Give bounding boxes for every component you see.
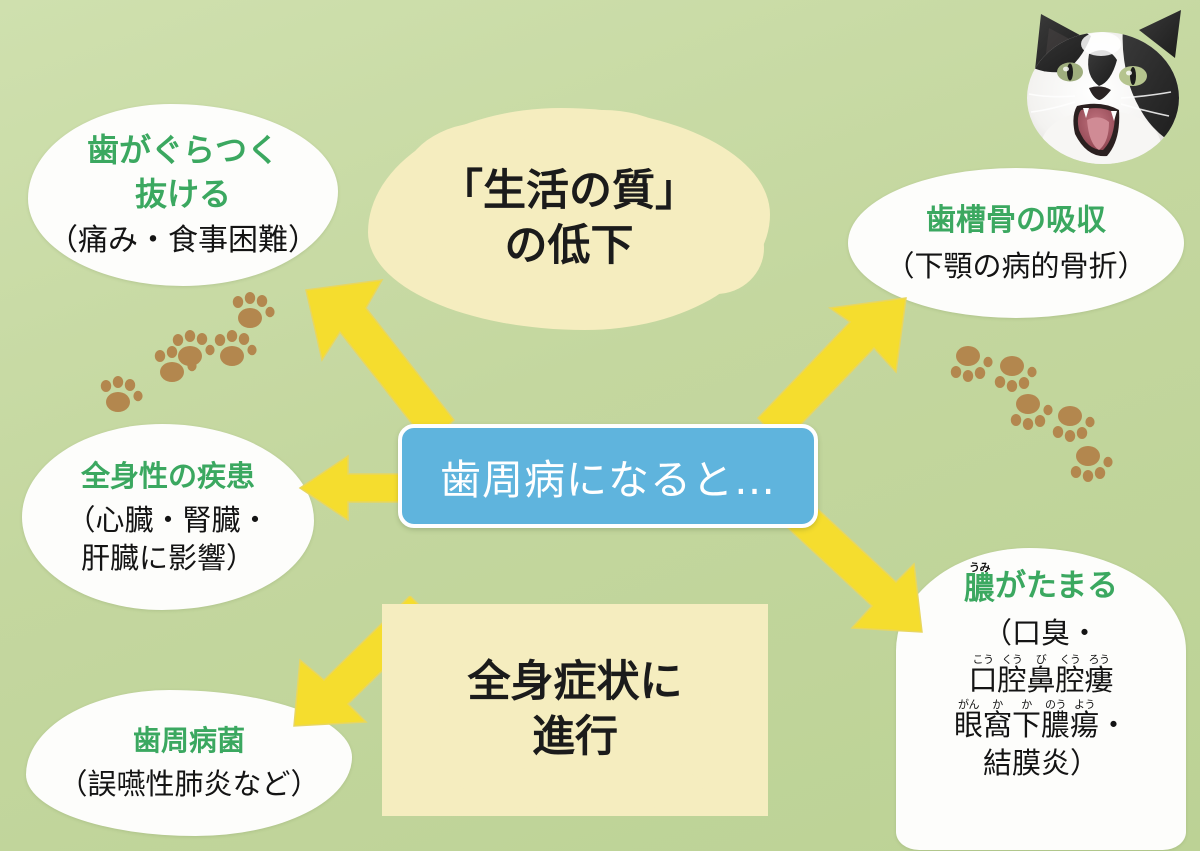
card-highlight-line: 歯槽骨の吸収 [922, 203, 1110, 240]
ruby-base: 腔 [997, 666, 1026, 695]
cloud-quality-of-life: 「生活の質」 の低下 [368, 108, 770, 330]
ruby-group: くう 腔 [1056, 654, 1085, 695]
ruby-group: こう 口 [968, 654, 997, 695]
ruby-base: 口 [968, 666, 997, 695]
ruby-base: 瘍 [1070, 711, 1099, 740]
card-sub-line: （口臭・ [983, 616, 1099, 650]
ruby-group: ・ [1099, 710, 1128, 740]
paw-print-icon [1068, 440, 1114, 484]
highlight-text: 歯がぐらつく [83, 132, 283, 172]
highlight-text: 歯槽骨の吸収 [922, 203, 1110, 240]
paw-print-icon [170, 326, 216, 370]
ruby-group: ろう 瘻 [1085, 654, 1114, 695]
card-sub-ruby-line: こう 口 くう 腔 び 鼻 くう 腔 ろう 瘻 [968, 654, 1113, 695]
card-systemic-disease: 全身性の疾患 （心臓・腎臓・ 肝臓に影響） [22, 424, 314, 610]
ruby-base: 腔 [1056, 666, 1085, 695]
paw-print-icon [98, 372, 144, 416]
highlight-tail: がたまる [995, 568, 1118, 605]
card-sub-ruby-line: がん 眼 か 窩 か 下 のう 膿 よう 瘍 ・ [954, 699, 1128, 740]
card-tooth-mobility: 歯がぐらつく 抜ける （痛み・食事困難） [28, 104, 338, 286]
card-sub-line: （下顎の病的骨折） [885, 249, 1146, 283]
ruby-base: 鼻 [1026, 666, 1055, 695]
paw-print-icon [212, 326, 258, 370]
ruby-base: 窩 [983, 711, 1012, 740]
card-sub-line: 結膜炎） [983, 746, 1099, 780]
highlight-text: 歯周病菌 [129, 724, 249, 759]
ruby-group: のう 膿 [1041, 699, 1070, 740]
card-highlight-line: 全身性の疾患 [77, 459, 259, 495]
arrow-left-icon [296, 450, 414, 526]
cat-head-photo [1015, 0, 1200, 175]
ruby-group: か 窩 [983, 699, 1012, 740]
cloud-line: の低下 [440, 222, 698, 271]
cloud-line: 「生活の質」 [440, 167, 698, 216]
ruby-group: がん 眼 [954, 699, 983, 740]
card-highlight-line: うみ 膿 がたまる [960, 562, 1122, 607]
paw-print-icon [1008, 388, 1054, 432]
highlight-text: うみ 膿 がたまる [960, 562, 1122, 607]
center-title-box: 歯周病になると… [398, 424, 818, 528]
card-pus-accumulation: うみ 膿 がたまる （口臭・ こう 口 くう 腔 び 鼻 くう [896, 548, 1186, 850]
ruby-base: 瘻 [1085, 666, 1114, 695]
paw-print-icon [1050, 400, 1096, 444]
ruby-base: 眼 [954, 711, 983, 740]
card-sub-line: （痛み・食事困難） [48, 223, 318, 258]
ruby-group: うみ 膿 [964, 562, 995, 605]
card-highlight-line: 歯周病菌 [129, 724, 249, 759]
ruby-group: び 鼻 [1026, 654, 1055, 695]
ruby-base: 膿 [1041, 711, 1070, 740]
ruby-base: 下 [1012, 711, 1041, 740]
ruby-group: よう 瘍 [1070, 699, 1099, 740]
highlight-text: 抜ける [131, 176, 235, 216]
cloud-line: 全身症状に [468, 658, 683, 707]
ruby-group: か 下 [1012, 699, 1041, 740]
card-highlight-line: 歯がぐらつく [83, 132, 283, 172]
highlight-text: 全身性の疾患 [77, 459, 259, 495]
poster-canvas: 「生活の質」 の低下 全身症状に 進行 歯がぐらつく [0, 0, 1200, 851]
paw-print-icon [230, 288, 276, 332]
card-sub-line: 肝臓に影響） [81, 541, 255, 575]
cloud-systemic-progression: 全身症状に 進行 [382, 604, 768, 816]
ruby-base: ・ [1099, 711, 1128, 740]
card-sub-line: （心臓・腎臓・ [66, 503, 269, 537]
paw-print-icon [948, 340, 994, 384]
card-sub-line: （誤嚥性肺炎など） [58, 767, 319, 801]
ruby-base: 膿 [964, 574, 995, 605]
ruby-group: くう 腔 [997, 654, 1026, 695]
center-title-label: 歯周病になると… [440, 446, 776, 506]
cloud-line: 進行 [468, 713, 683, 762]
card-highlight-line: 抜ける [131, 176, 235, 216]
